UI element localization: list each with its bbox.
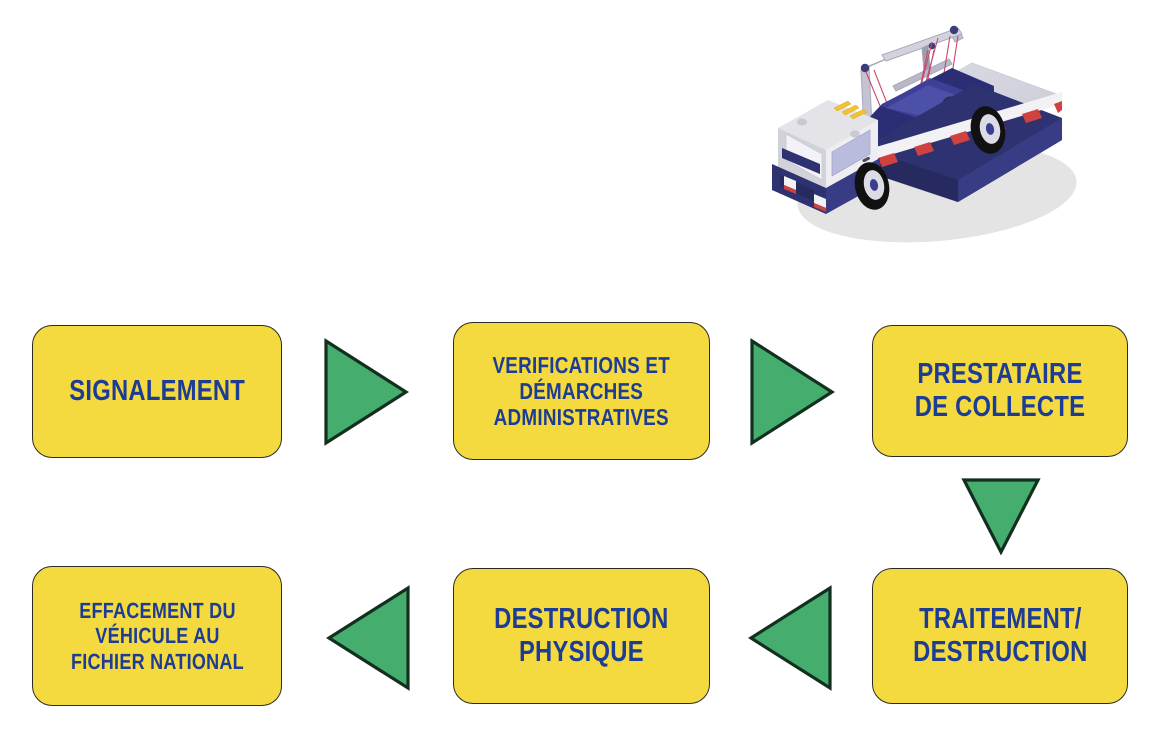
flow-node-label: EFFACEMENT DU VÉHICULE AU FICHIER NATION…: [71, 598, 244, 673]
flow-node-label: VERIFICATIONS ET DÉMARCHES ADMINISTRATIV…: [493, 352, 671, 431]
flow-node-effacement[interactable]: EFFACEMENT DU VÉHICULE AU FICHIER NATION…: [32, 566, 282, 706]
flowchart-canvas: SIGNALEMENT VERIFICATIONS ET DÉMARCHES A…: [0, 0, 1153, 741]
tow-truck-illustration: [762, 8, 1092, 258]
flow-node-label: PRESTATAIRE DE COLLECTE: [915, 358, 1085, 424]
flow-node-signalement[interactable]: SIGNALEMENT: [32, 325, 282, 458]
crane-pulley-front: [950, 26, 958, 34]
arrow-left-icon: [748, 584, 834, 692]
cab-mirror-left: [797, 118, 807, 125]
flow-node-prestataire[interactable]: PRESTATAIRE DE COLLECTE: [872, 325, 1128, 457]
flow-node-destruction[interactable]: DESTRUCTION PHYSIQUE: [453, 568, 710, 704]
cab-mirror-right: [850, 130, 860, 137]
flow-node-traitement[interactable]: TRAITEMENT/ DESTRUCTION: [872, 568, 1128, 704]
crane-pulley-rear: [861, 64, 869, 72]
arrow-left-icon: [326, 584, 412, 692]
flow-node-label: TRAITEMENT/ DESTRUCTION: [913, 603, 1087, 669]
arrow-right-icon: [748, 337, 834, 447]
flow-node-verifications[interactable]: VERIFICATIONS ET DÉMARCHES ADMINISTRATIV…: [453, 322, 710, 460]
flow-node-label: SIGNALEMENT: [69, 375, 245, 408]
arrow-down-icon: [960, 476, 1042, 556]
arrow-right-icon: [322, 337, 408, 447]
flow-node-label: DESTRUCTION PHYSIQUE: [494, 603, 668, 669]
